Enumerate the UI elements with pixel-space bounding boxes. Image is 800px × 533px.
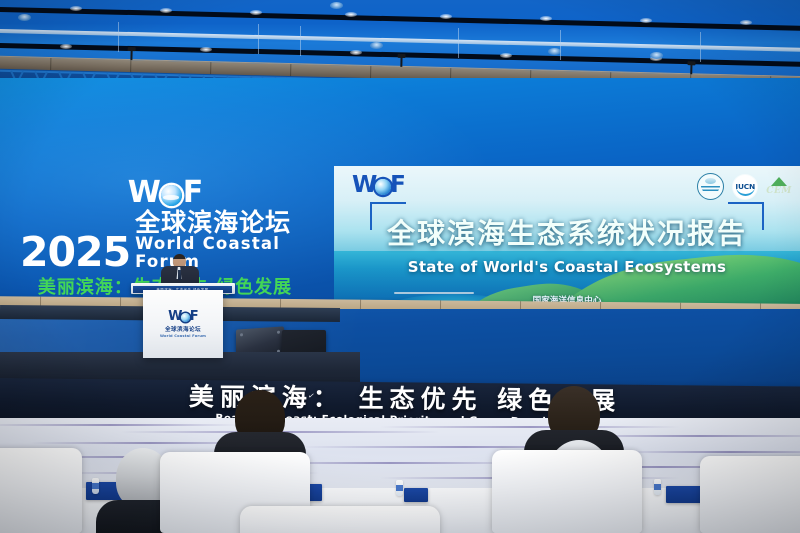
ceiling-wire: [560, 30, 561, 60]
ceiling-beam-upper: [0, 6, 800, 32]
led-backdrop-wall: W F 2025 全球滨海论坛 World Coastal Forum 美丽滨海…: [0, 78, 800, 300]
ceiling-light-glow: [60, 44, 72, 49]
ceiling-light-glow: [440, 14, 452, 19]
ceiling-light-glow: [160, 8, 172, 13]
podium-branding: W F 全球滨海论坛 World Coastal Forum: [143, 310, 223, 338]
ceiling-wire: [118, 22, 119, 52]
slide-wcf-f: F: [390, 174, 405, 197]
audience-chair-far-left: [0, 448, 82, 533]
slide-wcf-w: W: [352, 174, 376, 197]
conference-hall-scene: W F 2025 全球滨海论坛 World Coastal Forum 美丽滨海…: [0, 0, 800, 533]
ceiling-downlight: [370, 42, 383, 49]
podium-wcf-logo-icon: W F: [143, 310, 223, 323]
truss-hanger: [130, 50, 132, 60]
water-bottle-center[interactable]: [396, 480, 403, 496]
slide-partner-logos: IUCN CEM: [697, 173, 792, 200]
speaking-podium: W F 全球滨海论坛 World Coastal Forum: [143, 290, 223, 358]
podium-label-cn: 全球滨海论坛: [143, 325, 223, 333]
audience-chair-right: [492, 450, 642, 533]
ceiling-light-glow: [345, 12, 357, 17]
forum-title-en: World Coastal Forum: [135, 235, 310, 271]
podium-wcf-f: F: [190, 310, 198, 323]
ceiling-light-glow: [70, 6, 82, 11]
ceiling-wire: [458, 28, 459, 58]
water-bottle-left[interactable]: [92, 478, 99, 494]
forum-title-cn: 全球滨海论坛: [135, 210, 310, 235]
podium-wcf-w: W: [168, 310, 182, 323]
water-bottle-right[interactable]: [654, 479, 661, 495]
ceiling-light-glow: [740, 20, 752, 25]
podium-label-en: World Coastal Forum: [143, 334, 223, 338]
ceiling-wire: [300, 26, 301, 56]
nameplate-mid-right: [404, 488, 428, 502]
ceiling-downlight: [18, 14, 31, 21]
ceiling-light-glow: [500, 53, 512, 58]
podium-wcf-globe-icon: [181, 313, 190, 322]
ceiling-light-glow: [540, 16, 552, 21]
ceiling-downlight: [650, 52, 663, 59]
forum-year: 2025: [20, 234, 130, 271]
ceiling-wire: [700, 32, 701, 62]
cem-mountain-icon: [771, 177, 787, 186]
iucn-logo-icon: IUCN: [733, 175, 757, 199]
slide-wcf-logo-icon: W F: [352, 174, 405, 197]
wcf-logo-icon: W F: [128, 178, 203, 208]
slide-title-en: State of World's Coastal Ecosystems: [334, 258, 800, 276]
speaker-tie: [178, 270, 182, 280]
iucn-logo-label: IUCN: [735, 182, 755, 191]
cem-logo-label: CEM: [766, 187, 792, 196]
truss-hanger: [400, 57, 402, 67]
slide-wcf-globe-icon: [375, 179, 391, 195]
audience-chair-far-right: [700, 456, 800, 533]
ceiling-light-glow: [250, 10, 262, 15]
audience-chair-front-center: [240, 506, 440, 533]
wcf-logo-w: W: [128, 178, 160, 208]
ceiling-light-glow: [640, 18, 652, 23]
wcf-logo-f: F: [183, 178, 203, 208]
ceiling-light-glow: [350, 50, 362, 55]
wcf-globe-icon: [161, 185, 182, 206]
cem-logo-icon: CEM: [766, 177, 792, 196]
nmdis-logo-icon: [697, 173, 724, 200]
truss-hanger: [690, 64, 692, 74]
ceiling-wire: [258, 24, 259, 54]
ceiling-light-glow: [200, 47, 212, 52]
forum-title-row: 2025 全球滨海论坛 World Coastal Forum: [20, 210, 310, 271]
ceiling-downlight: [330, 2, 343, 9]
slide-title-cn: 全球滨海生态系统状况报告: [334, 220, 800, 248]
